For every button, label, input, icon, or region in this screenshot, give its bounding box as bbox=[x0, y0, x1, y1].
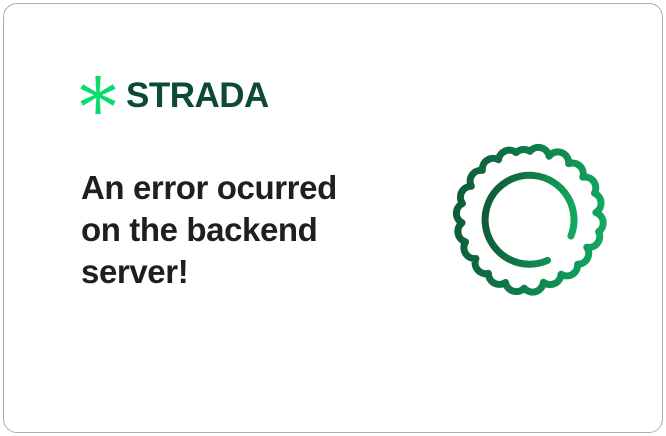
strada-wordmark: STRADA bbox=[126, 78, 269, 113]
error-card: STRADA An error ocurred on the backend s… bbox=[3, 3, 663, 433]
error-message-text: An error ocurred on the backend server! bbox=[81, 167, 371, 293]
gear-spinner-icon bbox=[452, 142, 608, 298]
strada-asterisk-icon bbox=[79, 76, 117, 114]
strada-logo: STRADA bbox=[79, 74, 269, 116]
